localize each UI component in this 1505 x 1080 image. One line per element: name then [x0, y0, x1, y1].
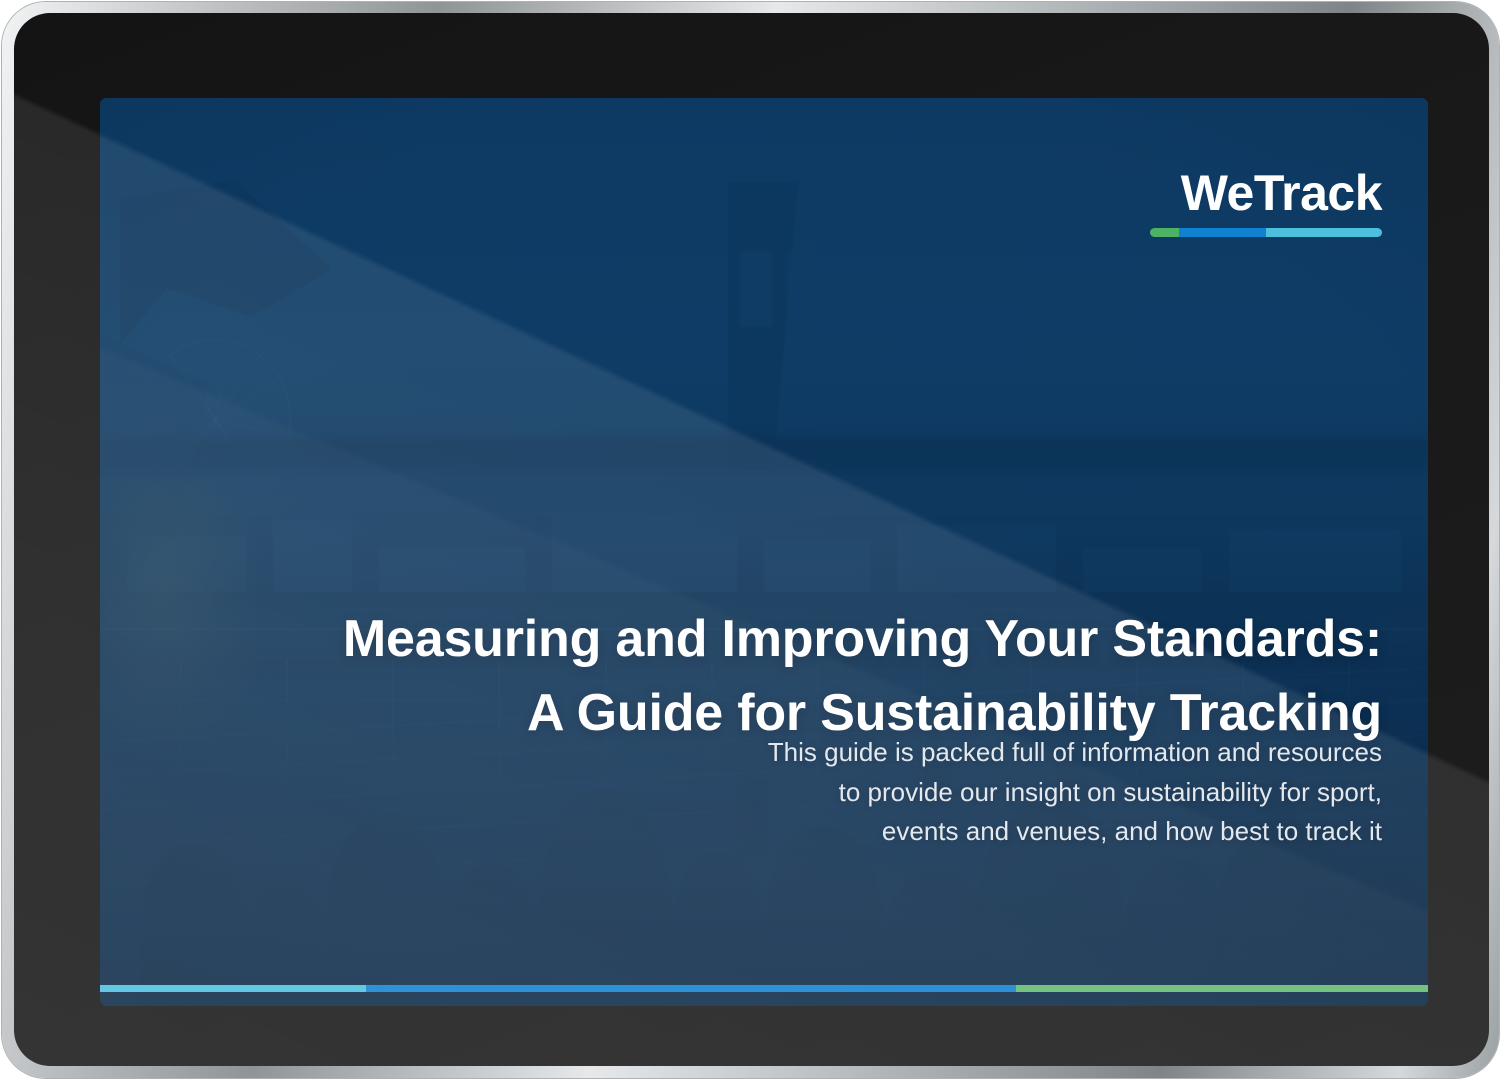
headline-line-1: Measuring and Improving Your Standards:	[210, 603, 1382, 677]
logo-rule-segment-lightblue	[1266, 228, 1382, 237]
wetrack-logo: WeTrack	[1150, 168, 1382, 237]
bottom-bar-segment-blue	[366, 985, 1017, 992]
logo-rule-segment-blue	[1179, 228, 1266, 237]
subtitle-line-3: events and venues, and how best to track…	[682, 812, 1382, 852]
tablet-device: WeTrack Measuring and Improving Your Sta…	[0, 0, 1505, 1080]
tablet-bezel: WeTrack Measuring and Improving Your Sta…	[14, 13, 1489, 1066]
cover-subtitle: This guide is packed full of information…	[682, 733, 1382, 852]
subtitle-line-2: to provide our insight on sustainability…	[682, 773, 1382, 813]
logo-rule-segment-green	[1150, 228, 1179, 237]
cover-content: WeTrack Measuring and Improving Your Sta…	[100, 98, 1428, 1006]
tablet-screen: WeTrack Measuring and Improving Your Sta…	[100, 98, 1428, 1006]
wetrack-wordmark: WeTrack	[1150, 168, 1382, 218]
bottom-bar-segment-green	[1016, 985, 1428, 992]
cover-headline: Measuring and Improving Your Standards: …	[210, 603, 1382, 751]
bottom-bar-segment-lightblue	[100, 985, 366, 992]
logo-accent-rule	[1150, 228, 1382, 237]
bottom-accent-bar	[100, 985, 1428, 992]
subtitle-line-1: This guide is packed full of information…	[682, 733, 1382, 773]
